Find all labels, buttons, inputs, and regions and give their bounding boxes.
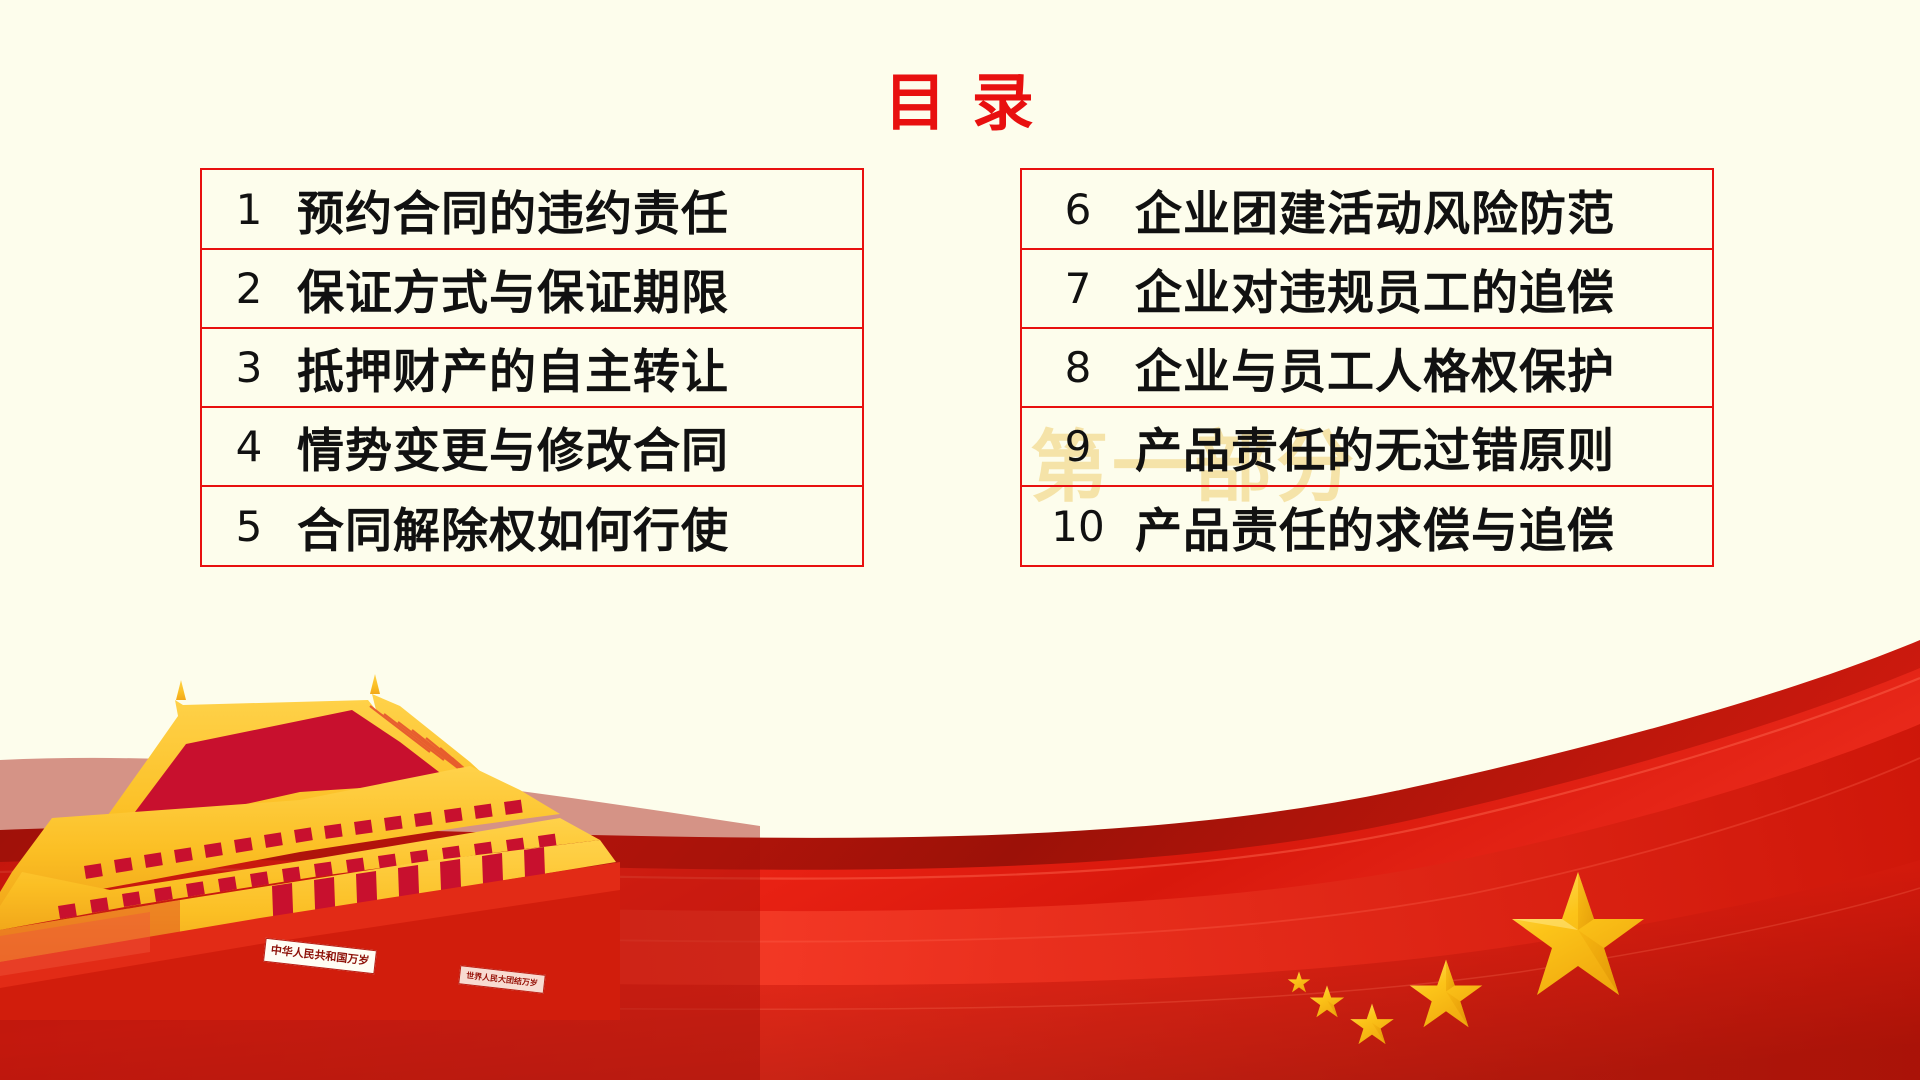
- slide-canvas: 中华人民共和国万岁 世界人民大团结万岁 第一部分 目 录 1 预约合同的违约责任…: [0, 0, 1920, 1080]
- toc-item-2[interactable]: 2 保证方式与保证期限: [202, 249, 862, 328]
- toc-item-label: 产品责任的无过错原则: [1134, 407, 1712, 486]
- toc-item-label: 保证方式与保证期限: [296, 249, 862, 328]
- toc-item-number: 10: [1022, 486, 1134, 565]
- toc-item-number: 7: [1022, 249, 1134, 328]
- toc-item-label: 情势变更与修改合同: [296, 407, 862, 486]
- page-title: 目 录: [0, 52, 1920, 142]
- roof-finials: [176, 674, 380, 700]
- toc-item-4[interactable]: 4 情势变更与修改合同: [202, 407, 862, 486]
- toc-item-label: 企业与员工人格权保护: [1134, 328, 1712, 407]
- toc-item-number: 1: [202, 170, 296, 249]
- toc-item-1[interactable]: 1 预约合同的违约责任: [202, 170, 862, 249]
- toc-item-label: 合同解除权如何行使: [296, 486, 862, 565]
- toc-item-label: 预约合同的违约责任: [296, 170, 862, 249]
- toc-item-number: 2: [202, 249, 296, 328]
- gold-star-1: [1512, 872, 1644, 995]
- gate-body: [0, 694, 620, 1020]
- toc-table-left: 1 预约合同的违约责任 2 保证方式与保证期限 3 抵押财产的自主转让 4 情势…: [200, 168, 864, 567]
- toc-item-number: 6: [1022, 170, 1134, 249]
- toc-item-10[interactable]: 10 产品责任的求偿与追偿: [1022, 486, 1712, 565]
- gold-star-3: [1350, 1004, 1394, 1045]
- toc-item-5[interactable]: 5 合同解除权如何行使: [202, 486, 862, 565]
- toc-item-9[interactable]: 9 产品责任的无过错原则: [1022, 407, 1712, 486]
- gold-star-5: [1288, 971, 1310, 992]
- toc-item-number: 3: [202, 328, 296, 407]
- toc-item-number: 4: [202, 407, 296, 486]
- toc-item-number: 8: [1022, 328, 1134, 407]
- toc-item-7[interactable]: 7 企业对违规员工的追偿: [1022, 249, 1712, 328]
- toc-item-label: 产品责任的求偿与追偿: [1134, 486, 1712, 565]
- toc-table-right: 6 企业团建活动风险防范 7 企业对违规员工的追偿 8 企业与员工人格权保护 9…: [1020, 168, 1714, 567]
- gold-star-4: [1310, 985, 1344, 1017]
- toc-item-6[interactable]: 6 企业团建活动风险防范: [1022, 170, 1712, 249]
- toc-item-label: 企业团建活动风险防范: [1134, 170, 1712, 249]
- toc-item-number: 9: [1022, 407, 1134, 486]
- toc-item-3[interactable]: 3 抵押财产的自主转让: [202, 328, 862, 407]
- toc-item-label: 企业对违规员工的追偿: [1134, 249, 1712, 328]
- gate-banner-secondary: 世界人民大团结万岁: [458, 965, 546, 994]
- toc-item-label: 抵押财产的自主转让: [296, 328, 862, 407]
- gold-star-2: [1410, 960, 1483, 1028]
- gate-banner-main: 中华人民共和国万岁: [263, 938, 377, 975]
- toc-item-8[interactable]: 8 企业与员工人格权保护: [1022, 328, 1712, 407]
- toc-item-number: 5: [202, 486, 296, 565]
